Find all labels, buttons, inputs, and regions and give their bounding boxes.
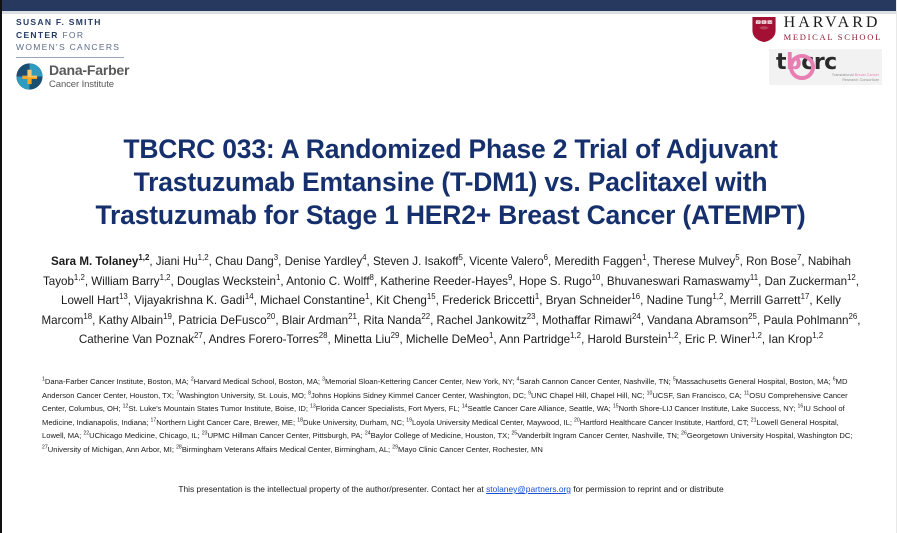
tbcrc-tagline-part-3: Research Consortium [842,78,879,82]
susan-smith-center-line-3-text: WOMEN'S CANCERS [16,42,120,52]
susan-smith-center-line-2: CENTER FOR [16,29,206,42]
tbcrc-tagline-part-2: Breast Cancer [855,73,879,77]
susan-smith-center-line-3: WOMEN'S CANCERS [16,41,206,54]
svg-text:TAS: TAS [767,20,773,24]
presentation-slide: SUSAN F. SMITH CENTER FOR WOMEN'S CANCER… [0,0,897,533]
author-list: Sara M. Tolaney1,2, Jiani Hu1,2, Chau Da… [36,252,866,350]
svg-text:VE: VE [756,20,760,24]
slide-title-line-2: Trastuzumab Emtansine (T-DM1) vs. Paclit… [28,166,873,199]
slide-title-line-3: Trastuzumab for Stage 1 HER2+ Breast Can… [28,199,873,232]
harvard-wordmark: HARVARD MEDICAL SCHOOL [784,15,882,43]
susan-smith-center-line-1-text: SUSAN F. SMITH [16,17,102,27]
tbcrc-pink-ring-icon [789,54,815,80]
right-logo-group: VE RI TAS HARVARD MEDICAL SCHOOL tbcrc T… [732,15,882,85]
tbcrc-tagline-part-1: Translational [832,73,855,77]
slide-title: TBCRC 033: A Randomized Phase 2 Trial of… [28,133,873,232]
author-list-remainder: , Jiani Hu1,2, Chau Dang3, Denise Yardle… [42,255,861,346]
presenter-email-link[interactable]: stolaney@partners.org [486,484,571,494]
harvard-medical-school-logo: VE RI TAS HARVARD MEDICAL SCHOOL [732,15,882,43]
dana-farber-circle-mark-icon [16,63,43,90]
copyright-footer: This presentation is the intellectual pr… [36,484,866,494]
svg-text:RI: RI [762,20,765,24]
top-accent-bar-shadow [2,11,897,14]
affiliation-list: 1Dana-Farber Cancer Institute, Boston, M… [42,375,860,457]
dana-farber-wordmark-row: Dana-Farber Cancer Institute [16,63,206,90]
susan-smith-center-line-2-light: FOR [59,30,85,40]
susan-smith-center-line-2-bold: CENTER [16,30,59,40]
tbcrc-letter-t: t [776,50,786,75]
harvard-name: HARVARD [784,15,882,31]
dana-farber-name: Dana-Farber [49,62,129,78]
presenting-author-name: Sara M. Tolaney [51,255,138,268]
footer-text-before: This presentation is the intellectual pr… [178,484,486,494]
presenting-author-affiliation-marks: 1,2 [138,253,149,262]
footer-text-after: for permission to reprint and or distrib… [571,484,724,494]
presenting-author: Sara M. Tolaney1,2 [51,255,149,268]
logo-divider [16,57,124,58]
top-accent-bar [2,0,897,11]
slide-title-line-1: TBCRC 033: A Randomized Phase 2 Trial of… [28,133,873,166]
dana-farber-logo: SUSAN F. SMITH CENTER FOR WOMEN'S CANCER… [16,16,206,90]
tbcrc-tagline: Translational Breast Cancer Research Con… [823,73,879,82]
susan-smith-center-line-1: SUSAN F. SMITH [16,16,206,29]
dana-farber-wordmark: Dana-Farber Cancer Institute [49,63,129,90]
harvard-subname: MEDICAL SCHOOL [784,32,882,43]
tbcrc-logo: tbcrc Translational Breast Cancer Resear… [769,49,882,85]
harvard-veritas-shield-icon: VE RI TAS [751,16,777,43]
dana-farber-subname: Cancer Institute [49,80,129,90]
